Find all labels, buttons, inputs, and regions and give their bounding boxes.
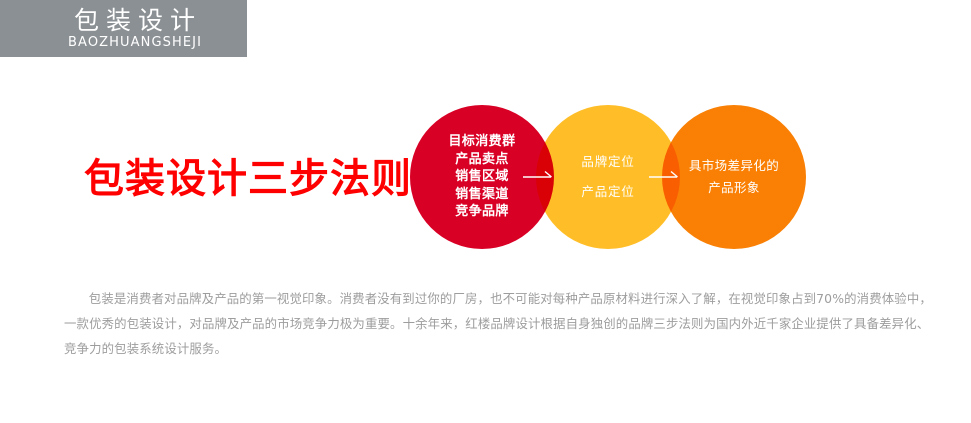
venn-circle-image	[662, 105, 806, 249]
body-line: 竞争力的包装系统设计服务。	[64, 336, 936, 361]
venn-circle-research	[410, 105, 554, 249]
header-title-en: BAOZHUANGSHEJI	[67, 35, 202, 51]
body-line: 一款优秀的包装设计，对品牌及产品的市场竞争力极为重要。十余年来，红楼品牌设计根据…	[64, 311, 936, 336]
body-paragraph: 包装是消费者对品牌及产品的第一视觉印象。消费者没有到过你的厂房，也不可能对每种产…	[64, 286, 936, 361]
page-title: 包装设计三步法则	[84, 155, 412, 203]
body-line: 包装是消费者对品牌及产品的第一视觉印象。消费者没有到过你的厂房，也不可能对每种产…	[64, 286, 936, 311]
header-title-cn: 包装设计	[67, 7, 202, 34]
header-bar: 包装设计 BAOZHUANGSHEJI	[0, 0, 247, 57]
three-step-venn-diagram: 目标消费群 产品卖点 销售区域 销售渠道 竞争品牌 品牌定位 产品定位 具市场差…	[410, 105, 810, 253]
venn-circle-positioning	[536, 105, 680, 249]
